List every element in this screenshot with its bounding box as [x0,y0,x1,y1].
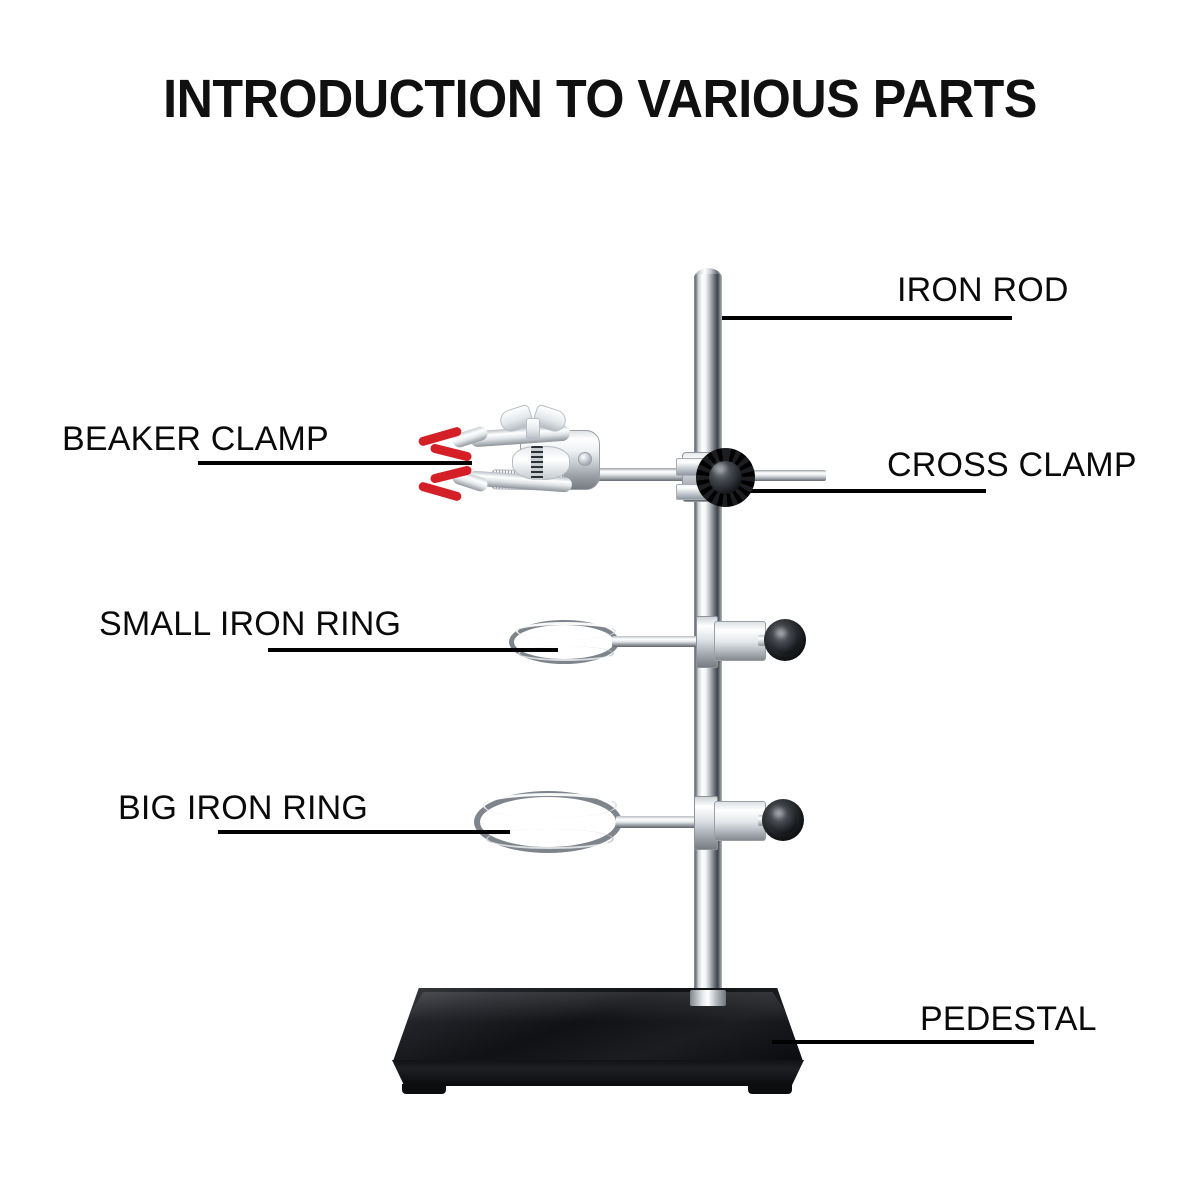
label-pedestal: PEDESTAL [920,1000,1097,1039]
pedestal-foot-left [402,1084,446,1094]
leader-line-iron-rod [722,316,1012,320]
small-iron-ring-knob-specular [775,628,786,636]
big-iron-ring-knob[interactable] [762,799,804,841]
leader-line-beaker-clamp [198,461,472,465]
beaker-clamp-upper-jaw-red-inner [430,443,473,462]
big-iron-ring-knob-specular [773,808,784,816]
label-beaker-clamp: BEAKER CLAMP [62,420,329,459]
beaker-clamp-screw [578,452,592,466]
leader-line-small-iron-ring [268,648,558,652]
beaker-clamp-lower-jaw-red-outer [418,481,463,502]
page-title: INTRODUCTION TO VARIOUS PARTS [42,68,1158,130]
pedestal-gloss-highlight [404,992,792,1022]
pedestal-front-edge [392,1060,804,1086]
small-iron-ring-highlight-top [516,622,617,640]
cross-clamp-knob-specular [713,463,726,473]
big-iron-ring-highlight-top [483,793,617,817]
label-small-iron-ring: SMALL IRON RING [99,605,401,644]
beaker-clamp-wing-nut-stem [526,418,540,440]
label-cross-clamp: CROSS CLAMP [887,446,1137,485]
product-diagram-canvas: INTRODUCTION TO VARIOUS PARTS [0,0,1200,1200]
small-iron-ring-stem [612,636,706,647]
label-big-iron-ring: BIG IRON RING [118,789,368,828]
cross-clamp-knob[interactable] [700,452,750,502]
leader-line-cross-clamp [724,489,986,493]
leader-line-pedestal [772,1040,1034,1044]
label-iron-rod: IRON ROD [897,271,1069,310]
iron-rod-base-collar [690,990,726,1006]
leader-line-big-iron-ring [218,830,510,834]
pedestal-foot-right [748,1084,792,1094]
big-iron-ring [474,791,622,853]
small-iron-ring [509,620,619,664]
beaker-clamp-spring [531,446,543,480]
small-iron-ring-knob[interactable] [764,619,806,661]
